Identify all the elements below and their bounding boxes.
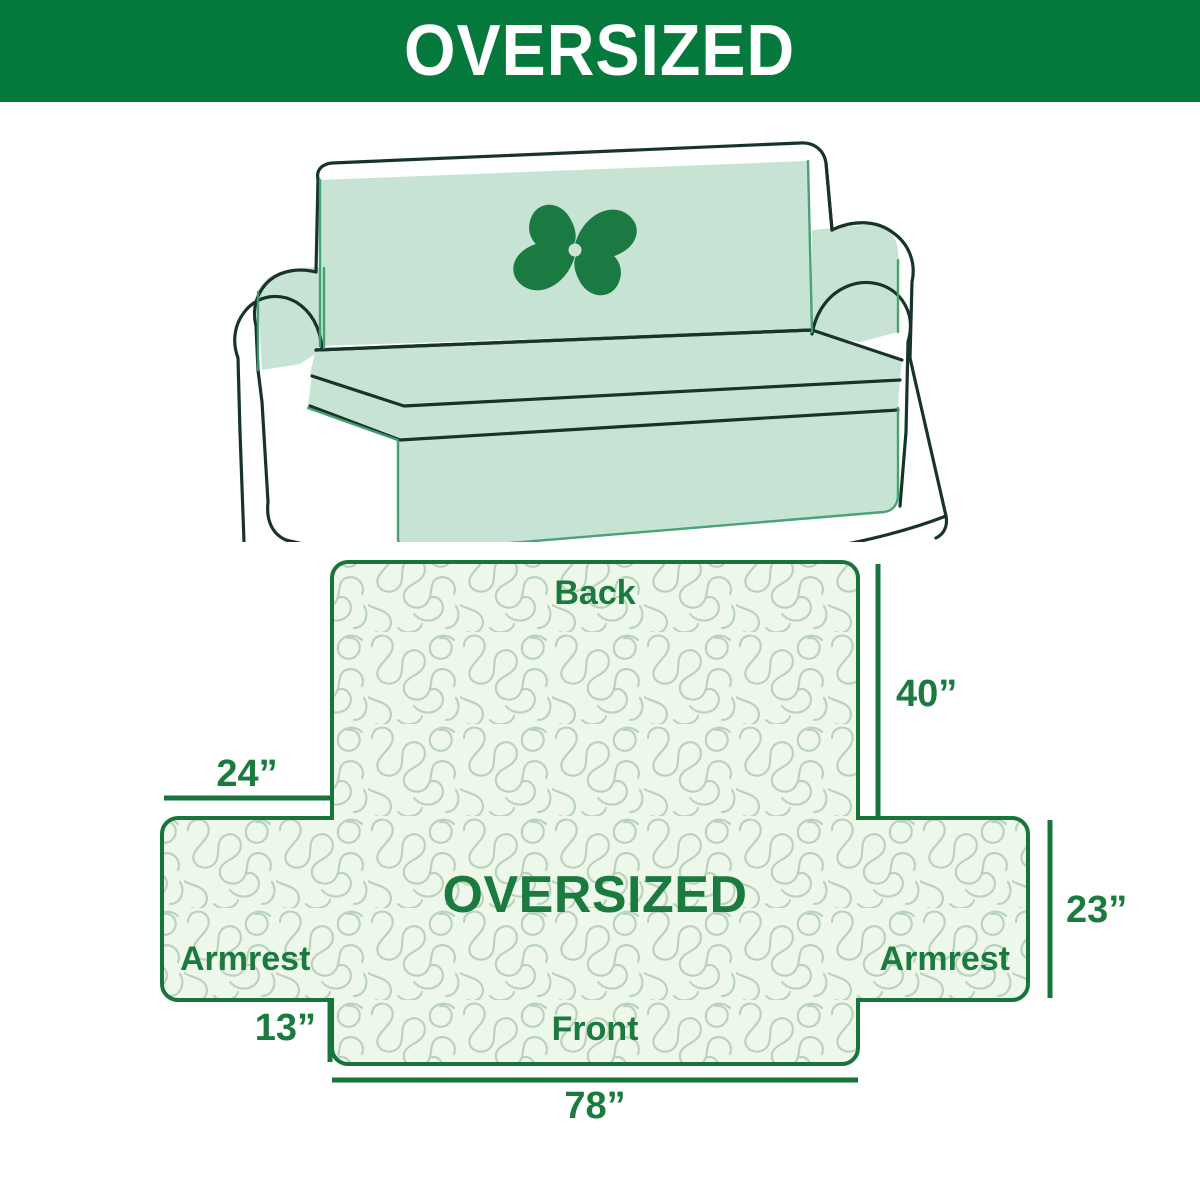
cover-flat-shape: [162, 562, 1028, 1064]
section-label-armrest-left: Armrest: [180, 940, 310, 978]
dimension-armrest-height: 23”: [1050, 820, 1127, 998]
header-banner: OVERSIZED: [0, 0, 1200, 102]
dimension-back-offset: 24”: [164, 753, 330, 798]
dimension-total-width-value: 78”: [564, 1085, 625, 1127]
dimension-front-offset: 13”: [255, 1002, 330, 1062]
section-label-center: OVERSIZED: [443, 866, 748, 924]
section-label-armrest-right: Armrest: [880, 940, 1010, 978]
dimension-back-height: 40”: [878, 564, 957, 816]
sofa-cover-fills: [258, 161, 902, 542]
dimension-total-width: 78”: [332, 1080, 858, 1127]
dimension-back-height-value: 40”: [896, 673, 957, 715]
page-title: OVERSIZED: [404, 15, 795, 87]
dimension-back-offset-value: 24”: [216, 753, 277, 795]
section-label-back: Back: [554, 574, 635, 612]
dimension-armrest-height-value: 23”: [1066, 889, 1127, 931]
sofa-illustration: [0, 102, 1200, 542]
dimension-front-offset-value: 13”: [255, 1007, 316, 1049]
section-label-front: Front: [552, 1010, 639, 1048]
layout-diagram: Back Front Armrest Armrest OVERSIZED 40”…: [0, 540, 1200, 1200]
